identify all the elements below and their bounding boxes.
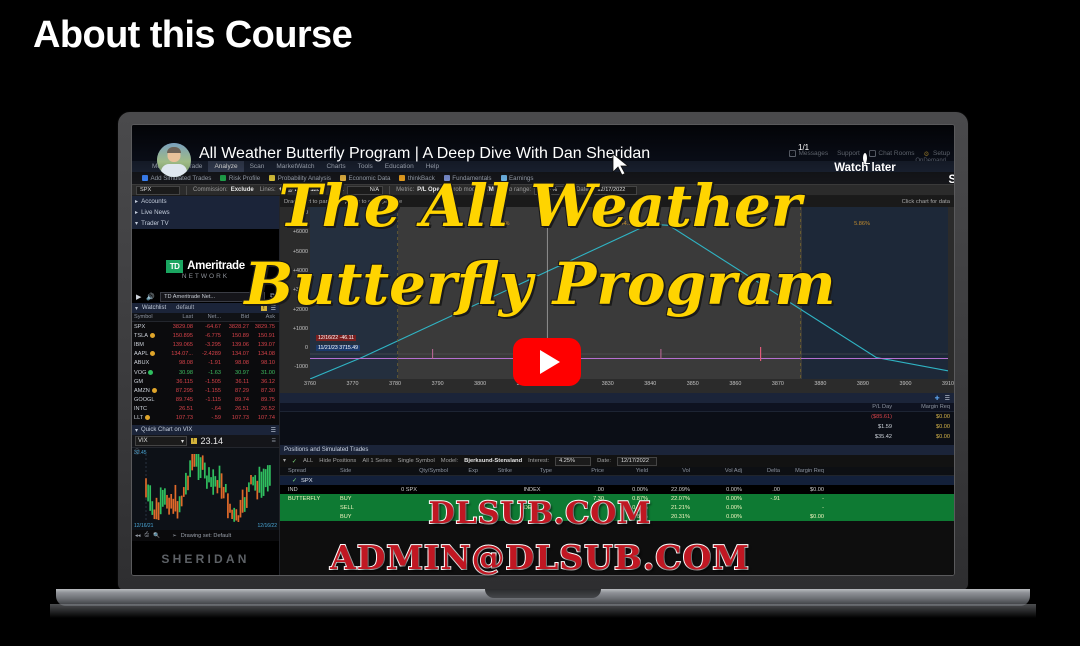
watchlist-cell: 3829.08 [159, 324, 193, 330]
watchlist-cell: 98.10 [249, 360, 277, 366]
watchlist-cell: -1.505 [193, 379, 221, 385]
positions-column-vol[interactable]: Vol [648, 468, 690, 474]
margin-req-column: Margin Req [892, 404, 954, 410]
mail-icon [789, 150, 796, 157]
table-cell: 0.00% [690, 487, 742, 493]
watchlist-rows: SPX3829.08-64.673828.273829.75TSLA150.89… [132, 322, 279, 423]
positions-column-side[interactable]: Side [332, 468, 370, 474]
table-cell: 0.87% [604, 496, 648, 502]
table-row[interactable]: IND0 SPXINDEX.000.00%22.09%0.00%.00$0.00 [280, 485, 954, 494]
probrange-control[interactable]: Prob range: 68.27% [500, 186, 570, 195]
table-cell: 0.00% [604, 487, 648, 493]
x-axis-tick: 3760 [304, 381, 316, 387]
positions-column-price[interactable]: Price [552, 468, 604, 474]
y-axis-tick: +6000 [293, 229, 308, 235]
watchlist-cell: -1.115 [193, 397, 221, 403]
positions-column-voladj[interactable]: Vol Adj [690, 468, 742, 474]
positions-date-value[interactable]: 12/17/2022 [617, 457, 657, 466]
watchlist-cell: 150.895 [159, 333, 193, 339]
table-cell: 0 SPX [370, 487, 448, 493]
watchlist-cell: 139.065 [159, 342, 193, 348]
pl-cell: $0.00 [892, 414, 954, 420]
positions-column-spread[interactable]: Spread [280, 468, 332, 474]
avatar[interactable] [157, 143, 191, 177]
x-axis-tick: 3850 [687, 381, 699, 387]
metric-value: P/L Open [417, 187, 443, 193]
filter-hide-positions[interactable]: Hide Positions [319, 458, 356, 464]
date-control[interactable]: Date: 12/17/2022 [576, 186, 637, 195]
positions-title: Positions and Simulated Trades [284, 447, 368, 453]
drawing-set-label[interactable]: Drawing set: Default [181, 533, 231, 539]
watchlist-cell: 107.73 [159, 415, 193, 421]
table-cell: -.91 [742, 496, 780, 502]
watchlist-cell: -2.4289 [193, 351, 221, 357]
watchlist-cell: -6.775 [193, 333, 221, 339]
subtool-label: Probability Analysis [278, 175, 331, 182]
subtool-earnings[interactable]: Earnings [501, 175, 534, 182]
watchlist-column-last[interactable]: Last [159, 314, 193, 320]
pl-rows: ($85.61)$0.00$1.59$0.00$35.42$0.00 [280, 412, 954, 442]
x-axis-tick: 3880 [814, 381, 826, 387]
watchlist-cell: 89.75 [249, 397, 277, 403]
prob-label-mid: 44.13% [621, 221, 640, 227]
watchlist-cell: 26.51 [221, 406, 249, 412]
watchlist-row[interactable]: VOG30.98-1.6330.9731.00 [132, 368, 279, 377]
watchlist-cell: LLT [132, 415, 159, 421]
pl-day-column: P/L Day [830, 404, 892, 410]
watchlist-row[interactable]: INTC26.51-.6426.5126.52 [132, 405, 279, 414]
laptop-base-shadow [50, 604, 1036, 618]
positions-column-marginreq[interactable]: Margin Req [780, 468, 824, 474]
x-axis-tick: 3780 [389, 381, 401, 387]
subtool-fundamentals[interactable]: Fundamentals [444, 175, 492, 182]
x-axis-tick: 3830 [602, 381, 614, 387]
watchlist-cell: 3828.27 [221, 324, 249, 330]
watchlist-cell: 139.07 [249, 342, 277, 348]
pl-cell: $0.00 [892, 434, 954, 440]
prob-label-right: 5.86% [854, 221, 870, 227]
x-axis-tick: 3800 [474, 381, 486, 387]
watchlist-cell: 150.91 [249, 333, 277, 339]
pl-summary-panel: ✚ ☰ P/L Day Margin Req ($85.61)$0.00$1.5… [280, 393, 954, 445]
video-count: 1/1 [798, 143, 809, 152]
watch-later-button[interactable]: Watch later [805, 155, 925, 174]
watchlist-row[interactable]: GM36.115-1.50536.1136.12 [132, 377, 279, 386]
watchlist-cell: INTC [132, 406, 159, 412]
table-cell: $0.00 [780, 514, 824, 520]
step-back-icon[interactable]: ◂◂ [135, 533, 141, 539]
alert-badge-icon[interactable]: ! [261, 305, 267, 311]
watchlist-cell: GM [132, 379, 159, 385]
status-dot-icon [152, 388, 157, 393]
watchlist-cell: 3829.75 [249, 324, 277, 330]
table-cell: 0.00% [690, 514, 742, 520]
subtool-probability-analysis[interactable]: Probability Analysis [269, 175, 331, 182]
chart-hint-left: Drag chart to pan/Drag prices to change … [284, 199, 402, 205]
x-axis-tick: 3870 [772, 381, 784, 387]
watchlist-cell: 87.29 [221, 388, 249, 394]
print-icon[interactable]: ⎙ [145, 532, 149, 539]
positions-rows: IND0 SPXINDEX.000.00%22.09%0.00%.00$0.00… [280, 485, 954, 521]
subtool-icon [340, 175, 346, 181]
watchlist-cell: 134.07... [159, 351, 193, 357]
avatar-body [161, 164, 187, 177]
subtool-thinkback[interactable]: thinkBack [399, 175, 434, 182]
subtool-economic-data[interactable]: Economic Data [340, 175, 390, 182]
x-axis-tick: 3910 [942, 381, 954, 387]
pl-cell: $35.42 [830, 434, 892, 440]
sheridan-label: SHERIDAN [161, 552, 249, 566]
interest-label: Interest: [528, 458, 549, 464]
watchlist-cell: 30.97 [221, 370, 249, 376]
subtool-icon [399, 175, 405, 181]
screenshot-root: About this Course Messages Support [0, 0, 1080, 646]
vix-date-start: 12/16/21 [134, 523, 153, 529]
trader-tv-label: Trader TV [141, 220, 169, 227]
watchlist-cell: VOG [132, 370, 159, 376]
table-cell: 0.87% [604, 514, 648, 520]
table-cell: 0.87% [604, 505, 648, 511]
chevron-down-icon: ▾ [181, 438, 184, 445]
subtool-icon [501, 175, 507, 181]
table-cell: 22.07% [648, 496, 690, 502]
share-button[interactable]: Share [917, 155, 955, 186]
watchlist-cell: 87.295 [159, 388, 193, 394]
table-row[interactable]: BUTTERFLYBUY7.300.87%22.07%0.00%-.91- [280, 494, 954, 503]
table-cell: IND [280, 487, 332, 493]
tos-left-column: ▸ Accounts ▸ Live News ▾ Trader TV [132, 196, 280, 575]
watchlist-cell: -64.67 [193, 324, 221, 330]
quickchart-title: Quick Chart on VIX [141, 427, 192, 433]
alert-badge-icon[interactable]: ! [191, 438, 197, 444]
subtool-label: Earnings [509, 175, 533, 182]
table-cell: - [780, 496, 824, 502]
watchlist-cell: -3.295 [193, 342, 221, 348]
x-axis-tick: 3860 [729, 381, 741, 387]
risk-chart-yaxis: +7000+6000+5000+4000+3000+2000+10000-100… [280, 207, 310, 379]
laptop-base-notch [485, 589, 601, 598]
table-cell: BUY [332, 514, 370, 520]
divider [186, 186, 187, 195]
table-row[interactable]: SELLDEBIT0.87%21.21%0.00%- [280, 503, 954, 512]
table-cell: 7.30 [552, 496, 604, 502]
watchlist-title: Watchlist [142, 305, 166, 311]
positions-column-exp[interactable]: Exp [448, 468, 478, 474]
td-channel-select[interactable]: TD Ameritrade Net... [160, 292, 265, 302]
volume-icon[interactable]: 🔊 [146, 293, 155, 301]
watchlist-row[interactable]: IBM139.065-3.295139.06139.07 [132, 340, 279, 349]
risk-chart-svg [310, 207, 948, 379]
watchlist-cell: 87.30 [249, 388, 277, 394]
tos-control-bar: SPX Commission: Exclude Lines: +1 @ Expi… [132, 184, 954, 196]
watchlist-column-net[interactable]: Net... [193, 314, 221, 320]
prob-label-left: 45.98% [491, 221, 510, 227]
status-dot-icon [150, 333, 155, 338]
vix-candlestick-chart[interactable]: 32.45 12/16/21 12/16/22 ⓘ [132, 448, 279, 530]
clock-icon [863, 153, 867, 163]
watchlist-cell: -.59 [193, 415, 221, 421]
status-dot-icon [148, 370, 153, 375]
x-axis-tick: 3790 [432, 381, 444, 387]
menu-icon[interactable]: ☰ [272, 438, 276, 444]
watchlist-column-symbol[interactable]: Symbol [132, 314, 159, 320]
pl-row: $35.42$0.00 [280, 432, 954, 442]
watchlist-header[interactable]: ▾ Watchlist default ! ☰ [132, 303, 279, 313]
positions-column-delta[interactable]: Delta [742, 468, 780, 474]
subtool-risk-profile[interactable]: Risk Profile [220, 175, 260, 182]
watchlist-row[interactable]: SPX3829.08-64.673828.273829.75 [132, 322, 279, 331]
check-icon[interactable]: ✓ [292, 477, 297, 484]
watchlist-column-ask[interactable]: Ask [249, 314, 277, 320]
subtool-label: thinkBack [408, 175, 435, 182]
positions-column-strike[interactable]: Strike [478, 468, 512, 474]
table-cell: 0.00% [690, 496, 742, 502]
probrange-label: Prob range: [500, 187, 531, 193]
positions-panel-header: Positions and Simulated Trades [280, 445, 954, 455]
risk-chart-plot: 45.98% 44.13% 5.86% 12/16/22 -46.11 11/2… [310, 207, 948, 379]
chevron-right-icon: ▸ [135, 198, 138, 205]
positions-column-qtysymbol[interactable]: Qty/Symbol [370, 468, 448, 474]
chevron-down-icon: ▾ [135, 220, 138, 227]
table-cell: 0.00% [690, 505, 742, 511]
probmode-control[interactable]: Prob mode: ITM [449, 187, 493, 193]
chart-hint-right: Click chart for data [902, 199, 950, 205]
risk-chart-xaxis: 3760377037803790380038103820383038403850… [310, 379, 948, 393]
y-axis-tick: +7000 [293, 210, 308, 216]
chart-hint-bar: Drag chart to pan/Drag prices to change … [280, 196, 954, 207]
positions-group-row[interactable]: ✓ SPX [280, 476, 954, 485]
vix-price: 23.14 [201, 436, 224, 446]
watchlist-cell: TSLA [132, 333, 159, 339]
status-dot-icon [150, 351, 155, 356]
watchlist-cell: 134.08 [249, 351, 277, 357]
watchlist-row[interactable]: GOOGL89.745-1.11589.7489.75 [132, 396, 279, 405]
quickchart-toolbar: VIX ▾ ! 23.14 ☰ [132, 435, 279, 448]
symbol-input[interactable]: SPX [136, 186, 180, 195]
watchlist-cell: -1.91 [193, 360, 221, 366]
table-cell: $0.00 [780, 487, 824, 493]
watchlist-cell: 150.89 [221, 333, 249, 339]
table-row[interactable]: BUY0.87%20.31%0.00%$0.00 [280, 512, 954, 521]
subtool-label: Economic Data [349, 175, 391, 182]
y-axis-tick: +5000 [293, 249, 308, 255]
watchlist-cell: 98.08 [159, 360, 193, 366]
table-cell: - [780, 505, 824, 511]
pl-cell: ($85.61) [830, 414, 892, 420]
positions-column-type[interactable]: Type [512, 468, 552, 474]
chart-tag-current: 12/16/22 -46.11 [316, 335, 356, 341]
y-axis-tick: +3000 [293, 287, 308, 293]
quickchart-header[interactable]: ▾ Quick Chart on VIX ☰ [132, 425, 279, 435]
y-axis-tick: 0 [305, 345, 308, 351]
accounts-panel-header[interactable]: ▸ Accounts [132, 196, 279, 207]
x-axis-tick: 3900 [899, 381, 911, 387]
subtool-icon [269, 175, 275, 181]
watchlist-cell: 134.07 [221, 351, 249, 357]
watchlist-row[interactable]: TSLA150.895-6.775150.89150.91 [132, 331, 279, 340]
watchlist-cell: 89.745 [159, 397, 193, 403]
date-label: Date: [576, 187, 590, 193]
subtool-label: Risk Profile [229, 175, 260, 182]
td-ameritrade-logo: TD Ameritrade [166, 260, 245, 273]
watchlist-cell: -1.63 [193, 370, 221, 376]
info-icon[interactable]: ⓘ [134, 448, 140, 456]
watchlist-cell: 36.11 [221, 379, 249, 385]
watchlist-cell: ABUX [132, 360, 159, 366]
zoom-icon[interactable]: 🔍 [153, 533, 160, 539]
y-axis-tick: +1000 [293, 326, 308, 332]
x-axis-tick: 3770 [347, 381, 359, 387]
watchlist-cell: 30.98 [159, 370, 193, 376]
td-logo-name: Ameritrade [187, 260, 245, 272]
metric-label: Metric: [396, 187, 414, 193]
probmode-label: Prob mode: [449, 187, 480, 193]
accounts-label: Accounts [141, 198, 166, 205]
check-icon[interactable]: ✓ [292, 458, 297, 465]
sheridan-logo: SHERIDAN [132, 541, 279, 576]
table-cell: BUTTERFLY [280, 496, 332, 502]
td-logo-sub: NETWORK [182, 273, 229, 280]
watchlist-cell: 26.51 [159, 406, 193, 412]
commission-value: Exclude [231, 187, 254, 193]
lines-control[interactable]: Lines: +1 @ Expiration [260, 187, 324, 193]
vix-date-end: 12/16/22 [258, 523, 277, 529]
watchlist-cell: 36.115 [159, 379, 193, 385]
watchlist-cell: 107.73 [221, 415, 249, 421]
watchlist-row[interactable]: LLT107.73-.59107.73107.74 [132, 414, 279, 423]
probrange-value[interactable]: 68.27% [534, 186, 570, 195]
td-player-controls: ▶ 🔊 TD Ameritrade Net... ⧉ [132, 290, 279, 303]
vix-symbol-label: VIX [138, 438, 148, 444]
chart-tag-future: 11/21/23 3715.49 [316, 345, 360, 351]
watchlist-cell: 89.74 [221, 397, 249, 403]
filter-all[interactable]: ALL [303, 458, 313, 464]
trader-tv-panel-header[interactable]: ▾ Trader TV [132, 218, 279, 229]
commission-control[interactable]: Commission: Exclude [193, 187, 254, 193]
table-cell: .00 [742, 487, 780, 493]
watchlist-columns: SymbolLastNet...BidAsk [132, 313, 279, 322]
menu-icon[interactable]: ☰ [271, 305, 276, 312]
page-title: About this Course [33, 14, 352, 57]
share-label: Share [917, 174, 955, 186]
model-value[interactable]: Bjerksund-Stensland [464, 458, 522, 464]
metric-control[interactable]: Metric: P/L Open [396, 187, 443, 193]
tos-main-area: Drag chart to pan/Drag prices to change … [280, 196, 954, 575]
x-axis-tick: 3890 [857, 381, 869, 387]
vix-chart-svg [132, 448, 279, 530]
play-icon[interactable]: ▶ [136, 293, 141, 301]
watchlist-cell: 36.12 [249, 379, 277, 385]
model-label: Model: [441, 458, 458, 464]
watchlist-cell: IBM [132, 342, 159, 348]
avatar-hair [167, 147, 181, 153]
pl-panel-header: ✚ ☰ [280, 393, 954, 403]
table-cell: 21.21% [648, 505, 690, 511]
td-logo-mark: TD [166, 260, 183, 273]
y-axis-tick: +4000 [293, 268, 308, 274]
lines-label: Lines: [260, 187, 276, 193]
pl-columns: P/L Day Margin Req [280, 403, 954, 412]
commission-label: Commission: [193, 187, 228, 193]
menu-icon[interactable]: ☰ [945, 395, 950, 402]
subtool-label: Fundamentals [452, 175, 491, 182]
watchlist-cell: 26.52 [249, 406, 277, 412]
video-title[interactable]: All Weather Butterfly Program | A Deep D… [199, 145, 650, 163]
watchlist-cell: 139.06 [221, 342, 249, 348]
watchlist-cell: 107.74 [249, 415, 277, 421]
chevron-right-icon: ▸ [135, 209, 138, 216]
subtool-icon [220, 175, 226, 181]
play-button[interactable] [513, 338, 581, 386]
date-value[interactable]: 12/17/2022 [593, 186, 637, 195]
positions-column-yield[interactable]: Yield [604, 468, 648, 474]
interest-value[interactable]: 4.25% [555, 457, 591, 466]
y-axis-tick: +2000 [293, 307, 308, 313]
step-control[interactable]: Step: N/A [330, 186, 383, 195]
watchlist-row[interactable]: ABUX98.08-1.9198.0898.10 [132, 359, 279, 368]
table-cell: SELL [332, 505, 370, 511]
risk-profile-chart[interactable]: +7000+6000+5000+4000+3000+2000+10000-100… [280, 207, 954, 393]
positions-group-label: SPX [301, 478, 313, 484]
table-cell: DEBIT [512, 505, 552, 511]
share-icon [954, 167, 956, 173]
table-cell: 20.31% [648, 514, 690, 520]
vix-chart-footer: ◂◂ ⎙ 🔍 ➢ Drawing set: Default [132, 530, 279, 541]
td-ameritrade-network-player[interactable]: TD Ameritrade NETWORK ▶ 🔊 TD Ameritrade … [132, 229, 279, 303]
menu-icon[interactable]: ☰ [271, 427, 276, 434]
step-value[interactable]: N/A [347, 186, 383, 195]
watchlist-cell: AMZN [132, 388, 159, 394]
pl-cell: $1.59 [830, 424, 892, 430]
watchlist-cell: AAPL [132, 351, 159, 357]
divider [389, 186, 390, 195]
chevron-down-icon: ▾ [135, 427, 138, 434]
table-cell: 22.09% [648, 487, 690, 493]
watchlist-cell: 31.00 [249, 370, 277, 376]
add-icon[interactable]: ✚ [935, 395, 940, 402]
cursor-icon[interactable]: ➢ [172, 533, 177, 539]
vix-symbol-input[interactable]: VIX ▾ [135, 436, 187, 446]
watchlist-cell: GOOGL [132, 397, 159, 403]
pl-row: ($85.61)$0.00 [280, 412, 954, 422]
filter-symbol-mode[interactable]: Single Symbol [398, 458, 435, 464]
step-label: Step: [330, 187, 344, 193]
filter-series[interactable]: All 1 Series [362, 458, 391, 464]
play-triangle-icon [540, 350, 560, 374]
table-cell: BUY [332, 496, 370, 502]
watchlist-cell: -1.155 [193, 388, 221, 394]
live-news-panel-header[interactable]: ▸ Live News [132, 207, 279, 218]
live-news-label: Live News [141, 209, 170, 216]
probmode-value: ITM [483, 187, 493, 193]
positions-filter-bar: ▾ ✓ ALL Hide Positions All 1 Series Sing… [280, 455, 954, 467]
pl-cell: $0.00 [892, 424, 954, 430]
positions-date-label: Date: [597, 458, 611, 464]
y-axis-tick: -1000 [294, 364, 308, 370]
watchlist-selected[interactable]: default [176, 305, 194, 311]
x-axis-tick: 3840 [644, 381, 656, 387]
popout-icon[interactable]: ⧉ [270, 293, 275, 301]
watchlist-row[interactable]: AAPL134.07...-2.4289134.07134.08 [132, 350, 279, 359]
watchlist-row[interactable]: AMZN87.295-1.15587.2987.30 [132, 386, 279, 395]
pl-row: $1.59$0.00 [280, 422, 954, 432]
table-cell: .00 [552, 487, 604, 493]
subtool-icon [444, 175, 450, 181]
chevron-down-icon: ▾ [135, 305, 138, 312]
status-dot-icon [145, 415, 150, 420]
chevron-down-icon[interactable]: ▾ [283, 458, 286, 464]
watchlist-column-bid[interactable]: Bid [221, 314, 249, 320]
